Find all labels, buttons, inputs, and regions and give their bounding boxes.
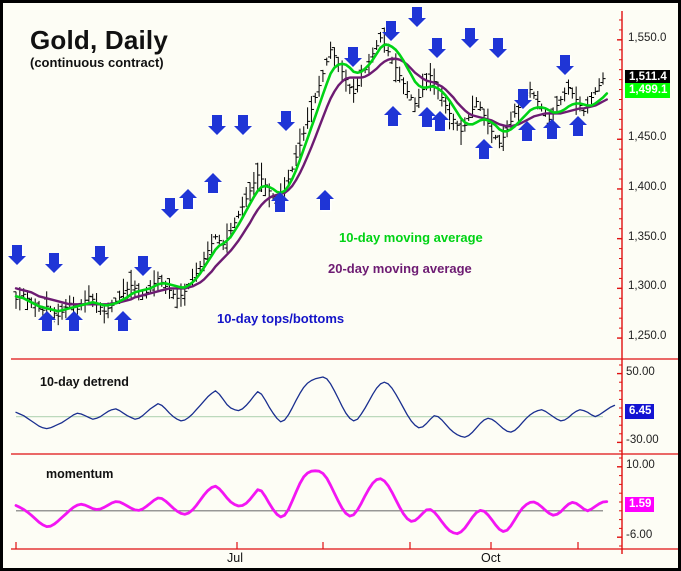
canvas-background [6, 6, 681, 571]
detrend-value-badge: 6.45 [625, 404, 654, 419]
legend-tops-bottoms: 10-day tops/bottoms [217, 311, 344, 326]
price-axis-label: 1,450.0 [628, 131, 666, 143]
momentum-axis-label: 10.00 [626, 459, 655, 471]
page-title: Gold, Daily [30, 25, 168, 56]
panel-label-detrend: 10-day detrend [40, 375, 129, 389]
page-subtitle: (continuous contract) [30, 55, 164, 70]
price-axis-label: 1,300.0 [628, 280, 666, 292]
chart-canvas [3, 3, 681, 571]
panel-label-momentum: momentum [46, 467, 113, 481]
chart-window: Gold, Daily (continuous contract) 10-day… [0, 0, 681, 571]
price-axis-label: 1,250.0 [628, 330, 666, 342]
x-axis-label: Oct [481, 551, 500, 565]
momentum-value-badge: 1.59 [625, 497, 654, 512]
detrend-axis-label: -30.00 [626, 434, 659, 446]
momentum-axis-label: -6.00 [626, 529, 652, 541]
legend-ma10: 10-day moving average [339, 230, 483, 245]
x-axis-label: Jul [227, 551, 243, 565]
detrend-axis-label: 50.00 [626, 366, 655, 378]
ma-price-badge: 1,499.1 [625, 83, 670, 98]
price-axis-label: 1,350.0 [628, 231, 666, 243]
price-axis-label: 1,550.0 [628, 32, 666, 44]
legend-ma20: 20-day moving average [328, 261, 472, 276]
price-axis-label: 1,400.0 [628, 181, 666, 193]
